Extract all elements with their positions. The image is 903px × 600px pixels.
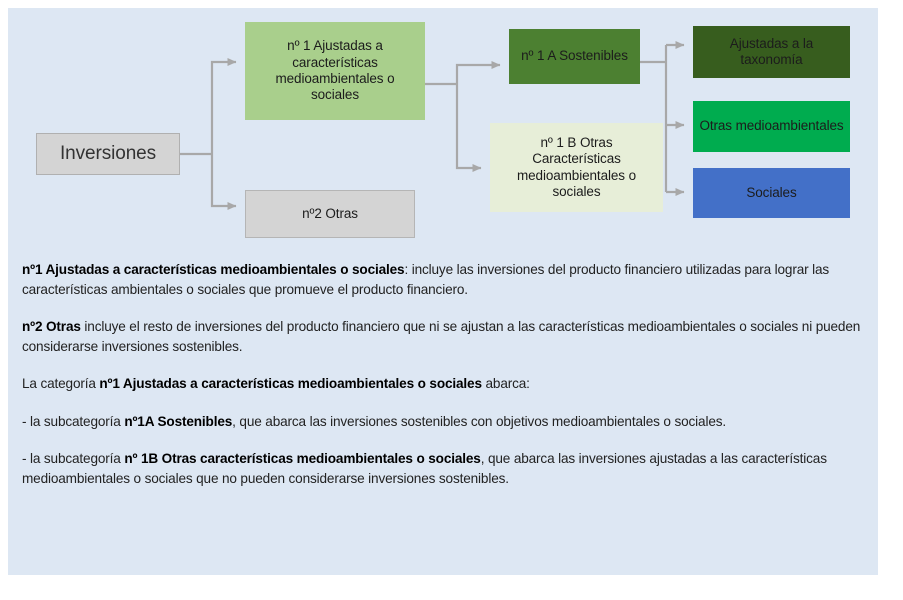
paragraph-n1a-term: nº1A Sostenibles: [124, 414, 232, 429]
node-n1b-otras-caracteristicas[interactable]: nº 1 B Otras Características medioambien…: [490, 123, 663, 212]
paragraph-categoria: La categoría nº1 Ajustadas a característ…: [22, 374, 864, 394]
node-n1-ajustadas[interactable]: nº 1 Ajustadas a características medioam…: [245, 22, 425, 120]
line-inversiones-to-n1: [212, 62, 236, 154]
node-sociales[interactable]: Sociales: [693, 168, 850, 218]
paragraph-n1a-prefix: - la subcategoría: [22, 414, 124, 429]
paragraph-categoria-prefix: La categoría: [22, 376, 99, 391]
investment-classification-diagram: Inversiones nº 1 Ajustadas a característ…: [8, 8, 878, 258]
line-inversiones-to-n2: [212, 154, 236, 206]
content-panel: Inversiones nº 1 Ajustadas a característ…: [8, 8, 878, 575]
paragraph-n2: nº2 Otras incluye el resto de inversione…: [22, 317, 864, 357]
paragraph-n1: nº1 Ajustadas a características medioamb…: [22, 260, 864, 300]
paragraph-n1-term: nº1 Ajustadas a características medioamb…: [22, 262, 404, 277]
paragraph-categoria-body: abarca:: [482, 376, 530, 391]
line-n1-to-n1a: [457, 65, 500, 84]
paragraph-n1b: - la subcategoría nº 1B Otras caracterís…: [22, 449, 864, 489]
node-n1a-sostenibles[interactable]: nº 1 A Sostenibles: [509, 29, 640, 84]
paragraph-n2-term: nº2 Otras: [22, 319, 81, 334]
paragraph-n2-body: incluye el resto de inversiones del prod…: [22, 319, 860, 354]
explanatory-text: nº1 Ajustadas a características medioamb…: [8, 260, 878, 506]
paragraph-categoria-term: nº1 Ajustadas a características medioamb…: [99, 376, 481, 391]
paragraph-n1a-body: , que abarca las inversiones sostenibles…: [232, 414, 726, 429]
node-n2-otras[interactable]: nº2 Otras: [245, 190, 415, 238]
paragraph-n1a: - la subcategoría nº1A Sostenibles, que …: [22, 412, 864, 432]
paragraph-n1b-prefix: - la subcategoría: [22, 451, 124, 466]
node-inversiones[interactable]: Inversiones: [36, 133, 180, 175]
node-otras-medioambientales[interactable]: Otras medioambientales: [693, 101, 850, 152]
line-n1-to-n1b: [457, 84, 481, 168]
node-ajustadas-taxonomia[interactable]: Ajustadas a la taxonomía: [693, 26, 850, 78]
paragraph-n1b-term: nº 1B Otras características medioambient…: [124, 451, 480, 466]
